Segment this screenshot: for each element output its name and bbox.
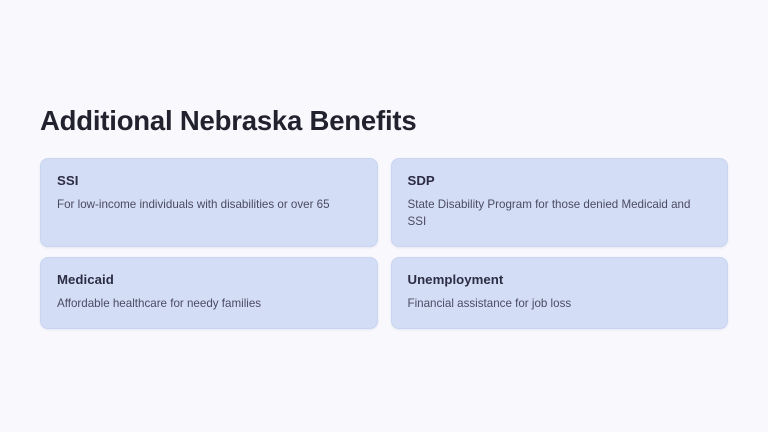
benefit-card-description: For low-income individuals with disabili… — [57, 196, 361, 213]
card-row-top: SSI For low-income individuals with disa… — [40, 158, 728, 247]
benefit-card-heading: Medicaid — [57, 272, 361, 288]
benefit-card-heading: SSI — [57, 173, 361, 189]
benefits-card-grid: SSI For low-income individuals with disa… — [40, 158, 728, 329]
benefit-card-description: State Disability Program for those denie… — [408, 196, 712, 230]
benefit-card-heading: Unemployment — [408, 272, 712, 288]
benefit-card-sdp[interactable]: SDP State Disability Program for those d… — [391, 158, 729, 247]
benefit-card-description: Financial assistance for job loss — [408, 295, 712, 312]
benefit-card-heading: SDP — [408, 173, 712, 189]
slide-canvas: Additional Nebraska Benefits SSI For low… — [0, 0, 768, 432]
benefit-card-description: Affordable healthcare for needy families — [57, 295, 361, 312]
benefit-card-ssi[interactable]: SSI For low-income individuals with disa… — [40, 158, 378, 247]
page-title: Additional Nebraska Benefits — [40, 105, 416, 137]
card-row-bottom: Medicaid Affordable healthcare for needy… — [40, 257, 728, 329]
benefit-card-medicaid[interactable]: Medicaid Affordable healthcare for needy… — [40, 257, 378, 329]
benefit-card-unemployment[interactable]: Unemployment Financial assistance for jo… — [391, 257, 729, 329]
